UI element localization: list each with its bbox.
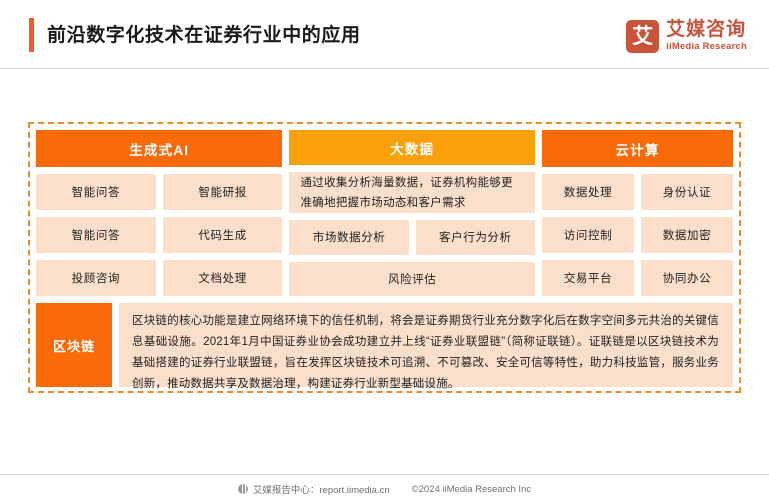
column-header-big-data: 大数据: [289, 130, 534, 165]
page-header: 前沿数字化技术在证券行业中的应用 艾 艾媒咨询 iiMedia Research: [0, 0, 769, 69]
description-line: 通过收集分析海量数据，证券机构能够更: [300, 173, 523, 193]
blockchain-description: 区块链的核心功能是建立网络环境下的信任机制，将会是证券期货行业充分数字化后在数字…: [119, 303, 733, 387]
cell-item[interactable]: 交易平台: [542, 260, 634, 296]
brand-mark-icon: 艾: [626, 20, 659, 53]
cell-item[interactable]: 客户行为分析: [416, 220, 535, 254]
description-line: 准确地把握市场动态和客户需求: [300, 193, 523, 213]
blockchain-section: 区块链 区块链的核心功能是建立网络环境下的信任机制，将会是证券期货行业充分数字化…: [36, 303, 733, 387]
footer-copyright: ©2024 iiMedia Research Inc: [412, 484, 531, 495]
cell-row: 智能问答 代码生成: [36, 217, 282, 253]
big-data-description: 通过收集分析海量数据，证券机构能够更 准确地把握市场动态和客户需求: [289, 172, 534, 213]
page-title: 前沿数字化技术在证券行业中的应用: [47, 26, 361, 45]
globe-icon: [238, 484, 248, 494]
column-header-generative-ai: 生成式AI: [36, 130, 282, 167]
brand-text: 艾媒咨询 iiMedia Research: [666, 20, 747, 52]
brand-name-cn: 艾媒咨询: [666, 20, 747, 40]
column-header-cloud-computing: 云计算: [542, 130, 733, 167]
blockchain-label: 区块链: [36, 303, 112, 387]
technology-columns: 生成式AI 智能问答 智能研报 智能问答 代码生成 投顾咨询 文档处理 大数据 …: [36, 130, 733, 296]
brand-mark-glyph: 艾: [632, 26, 653, 47]
cell-item[interactable]: 智能研报: [163, 174, 283, 210]
cell-item[interactable]: 投顾咨询: [36, 260, 156, 296]
cell-row: 投顾咨询 文档处理: [36, 260, 282, 296]
title-accent-bar: [29, 18, 34, 52]
brand-logo: 艾 艾媒咨询 iiMedia Research: [626, 18, 747, 54]
cell-row: 智能问答 智能研报: [36, 174, 282, 210]
footer-report-center: 艾媒报告中心：report.iimedia.cn: [253, 482, 390, 496]
header-divider: [0, 68, 769, 69]
cell-item[interactable]: 智能问答: [36, 217, 156, 253]
cell-item[interactable]: 代码生成: [163, 217, 283, 253]
content-frame: 生成式AI 智能问答 智能研报 智能问答 代码生成 投顾咨询 文档处理 大数据 …: [28, 122, 741, 393]
page-footer: 艾媒报告中心：report.iimedia.cn ©2024 iiMedia R…: [0, 478, 769, 500]
cell-item[interactable]: 协同办公: [641, 260, 733, 296]
cell-item-risk-assessment[interactable]: 风险评估: [289, 262, 534, 296]
cell-item[interactable]: 文档处理: [163, 260, 283, 296]
cell-row: 数据处理 身份认证: [542, 174, 733, 210]
cell-row: 交易平台 协同办公: [542, 260, 733, 296]
cell-row: 访问控制 数据加密: [542, 217, 733, 253]
column-cloud-computing: 云计算 数据处理 身份认证 访问控制 数据加密 交易平台 协同办公: [542, 130, 733, 296]
cell-row: 市场数据分析 客户行为分析: [289, 220, 534, 254]
cell-item[interactable]: 数据加密: [641, 217, 733, 253]
page-title-group: 前沿数字化技术在证券行业中的应用: [29, 17, 361, 53]
cell-item[interactable]: 数据处理: [542, 174, 634, 210]
brand-name-en: iiMedia Research: [666, 41, 747, 52]
cell-item[interactable]: 访问控制: [542, 217, 634, 253]
footer-divider: [0, 474, 769, 475]
column-generative-ai: 生成式AI 智能问答 智能研报 智能问答 代码生成 投顾咨询 文档处理: [36, 130, 282, 296]
cell-item[interactable]: 身份认证: [641, 174, 733, 210]
cell-item[interactable]: 市场数据分析: [289, 220, 408, 254]
cell-item[interactable]: 智能问答: [36, 174, 156, 210]
column-big-data: 大数据 通过收集分析海量数据，证券机构能够更 准确地把握市场动态和客户需求 市场…: [289, 130, 534, 296]
